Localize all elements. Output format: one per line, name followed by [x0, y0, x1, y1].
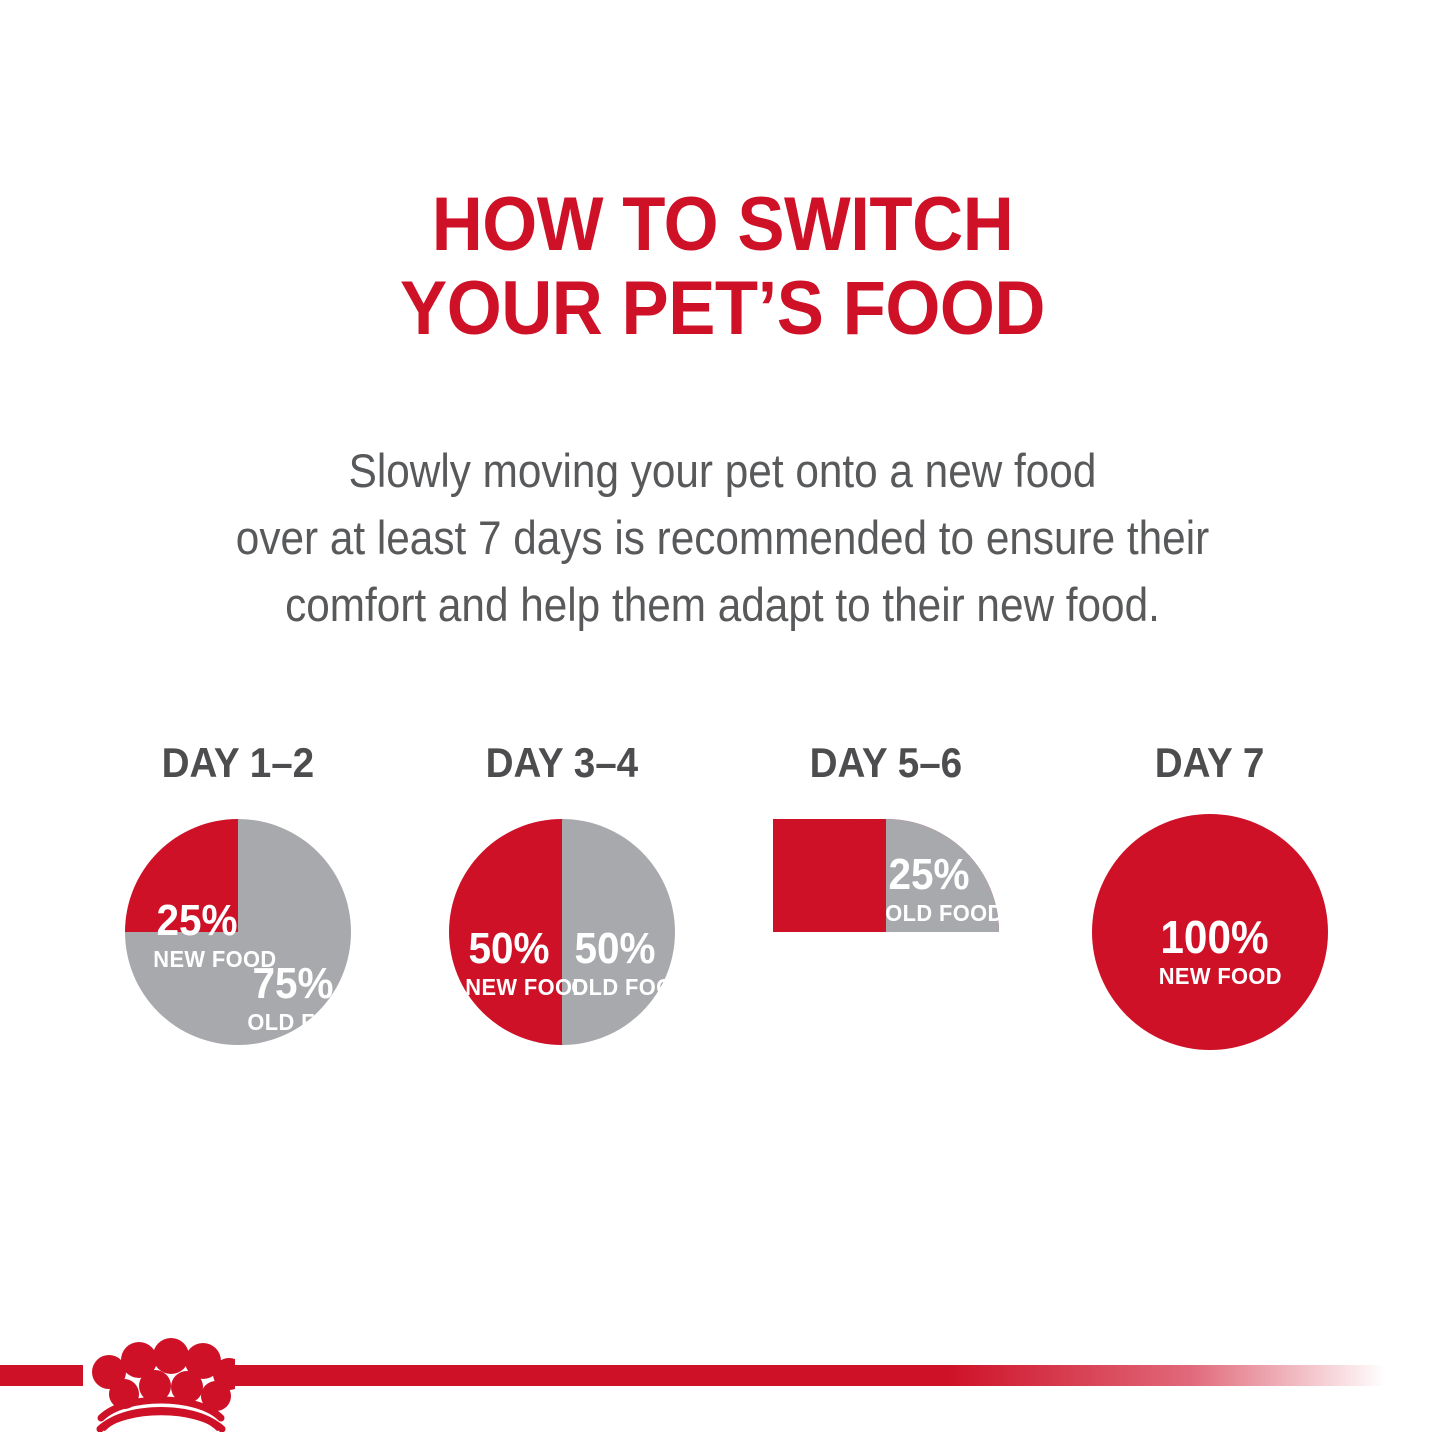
intro-paragraph: Slowly moving your pet onto a new food o… — [72, 437, 1373, 638]
pie-cell-day-7: DAY 7 100% NEW FOOD — [1060, 740, 1360, 1050]
footer-bar-right — [231, 1365, 1386, 1386]
pie-chart-day-7 — [1092, 814, 1328, 1050]
footer — [0, 1318, 1445, 1445]
day-label-5-6: DAY 5–6 — [810, 740, 963, 786]
day-label-7: DAY 7 — [1155, 740, 1265, 786]
pie-chart-day-5-6 — [773, 819, 999, 1045]
pie-cell-day-5-6: DAY 5–6 25% OLD FOOD 75% NEW FOOD — [736, 740, 1036, 1045]
pie-cell-day-3-4: DAY 3–4 50% NEW FOOD 50% OLD FOOD — [412, 740, 712, 1045]
pie-wrap-day-5-6: 25% OLD FOOD 75% NEW FOOD — [773, 819, 999, 1045]
pie-cell-day-1-2: DAY 1–2 25% NEW FOOD 75% OLD FOOD — [88, 740, 388, 1045]
pie-wrap-day-7: 100% NEW FOOD — [1092, 814, 1328, 1050]
footer-bar-left — [0, 1365, 83, 1386]
pie-chart-day-1-2 — [125, 819, 351, 1045]
royal-canin-crown-icon — [87, 1332, 235, 1432]
day-label-3-4: DAY 3–4 — [486, 740, 639, 786]
day-label-1-2: DAY 1–2 — [162, 740, 315, 786]
pie-chart-day-3-4 — [449, 819, 675, 1045]
pie-wrap-day-1-2: 25% NEW FOOD 75% OLD FOOD — [125, 819, 351, 1045]
pie-chart-row: DAY 1–2 25% NEW FOOD 75% OLD FOOD DAY 3–… — [88, 740, 1360, 1120]
pie-wrap-day-3-4: 50% NEW FOOD 50% OLD FOOD — [449, 819, 675, 1045]
page-title: HOW TO SWITCH YOUR PET’S FOOD — [51, 183, 1395, 351]
